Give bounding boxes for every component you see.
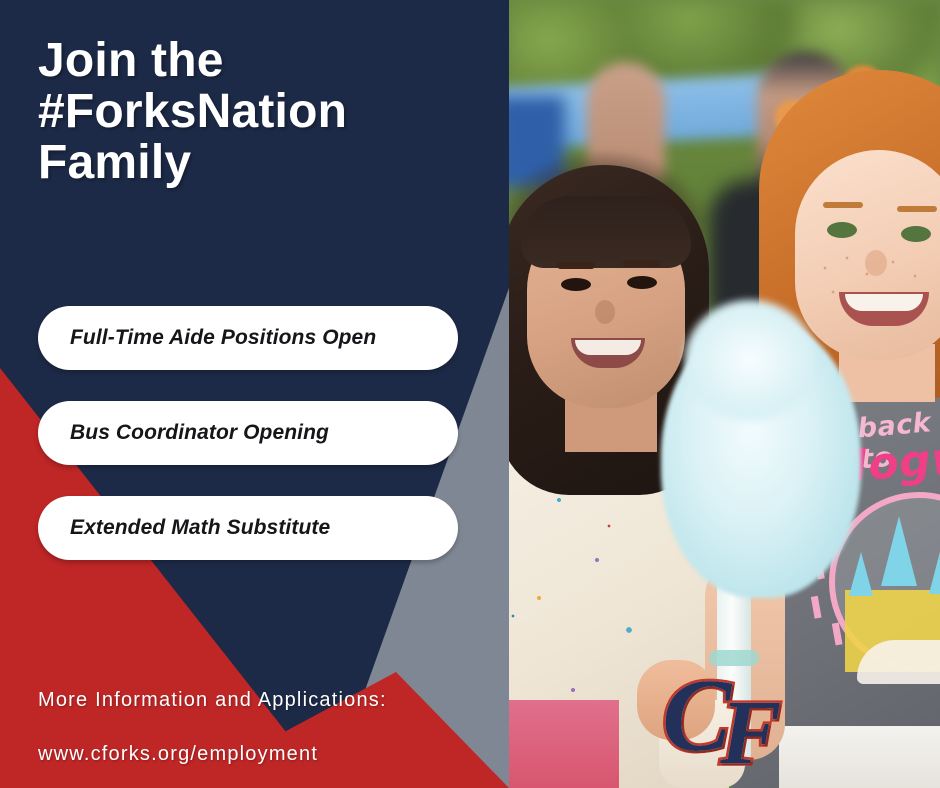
job-pill-bus-coordinator[interactable]: Bus Coordinator Opening [38,401,458,465]
shirt-graphic-castle-tower [929,540,940,594]
job-pill-full-time-aide[interactable]: Full-Time Aide Positions Open [38,306,458,370]
job-pill-math-substitute[interactable]: Extended Math Substitute [38,496,458,560]
girl-right-white-bottom [779,726,940,788]
job-openings-list: Full-Time Aide Positions Open Bus Coordi… [38,306,458,591]
girl-left-eye-right [627,276,657,289]
girl-right-eyebrow-right [897,206,937,212]
girl-left-eyebrow-left [557,262,595,269]
job-pill-label: Extended Math Substitute [70,516,330,540]
girl-left-pink-skirt [509,700,619,788]
girl-right-nose [865,250,887,276]
girl-left-eyebrow-right [623,260,661,267]
footer-line-more-information: More Information and Applications: [38,687,387,714]
cotton-candy-highlight [685,300,815,420]
girl-left-nose [595,300,615,324]
footer-line-website-url[interactable]: www.cforks.org/employment [38,741,387,768]
cf-logo: C F [662,672,792,776]
girl-left-teeth [575,340,641,355]
footer-info: More Information and Applications: www.c… [38,660,387,788]
girl-right-eye-left [827,222,857,238]
girl-right-eyebrow-left [823,202,863,208]
shirt-graphic-castle-tower [881,516,917,586]
page-title: Join the #ForksNation Family [38,36,468,189]
girl-left-eye-left [561,278,591,291]
job-pill-label: Bus Coordinator Opening [70,421,329,445]
job-pill-label: Full-Time Aide Positions Open [70,326,376,350]
girl-left-bangs [521,196,691,268]
girl-right-eye-right [901,226,931,242]
poster-canvas: Join the #ForksNation Family Full-Time A… [0,0,940,788]
cf-logo-letter-f: F [720,686,781,778]
girl-right-teeth [845,294,923,311]
left-graphic-panel: Join the #ForksNation Family Full-Time A… [0,0,509,788]
shirt-graphic-castle-tower [849,552,873,596]
